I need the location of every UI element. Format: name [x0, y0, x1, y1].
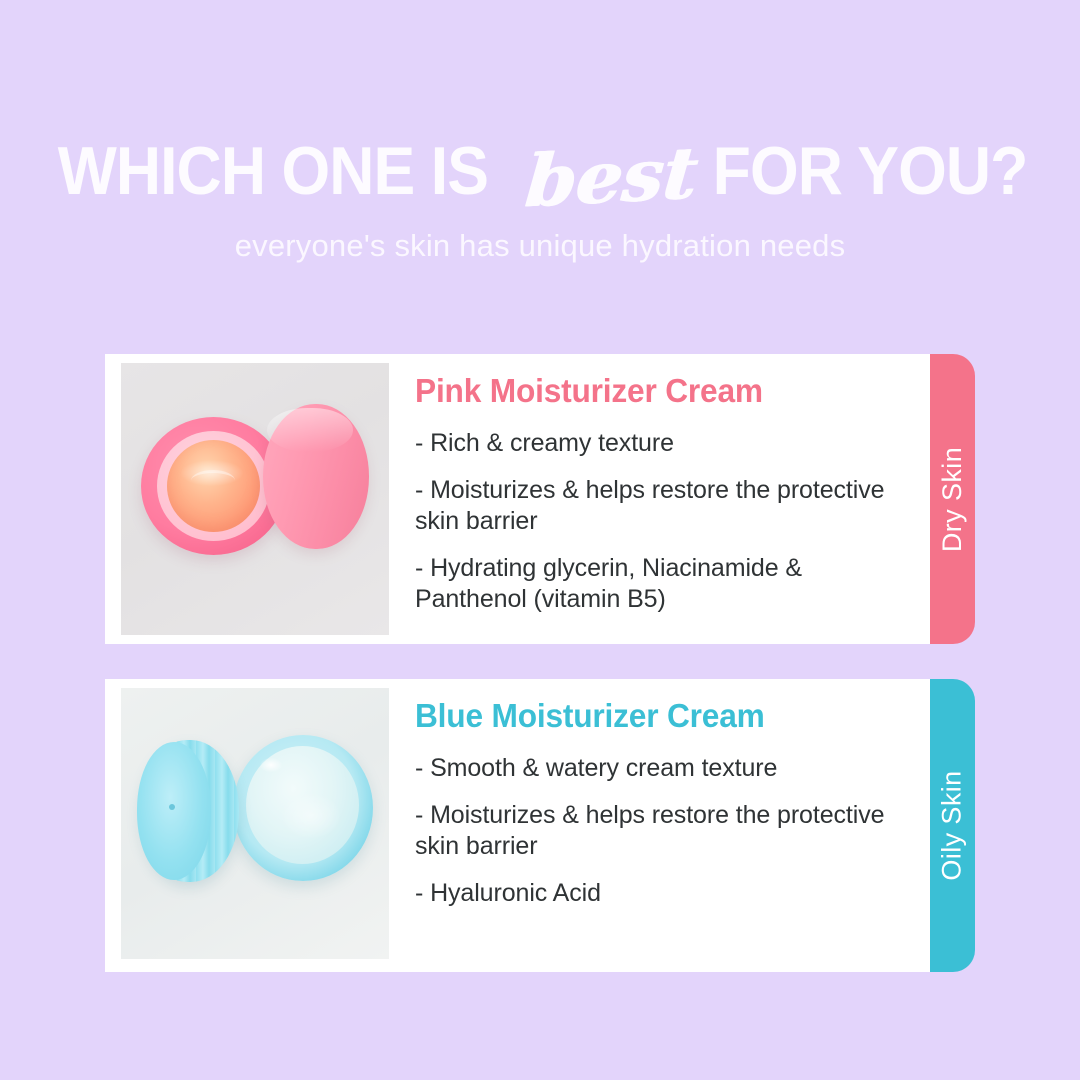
- product-title-pink: Pink Moisturizer Cream: [415, 372, 892, 410]
- headline-part-2: FOR YOU?: [713, 128, 1028, 214]
- product-card-pink[interactable]: Pink Moisturizer Cream - Rich & creamy t…: [105, 354, 930, 644]
- feature-bullet: - Hydrating glycerin, Niacinamide & Pant…: [415, 553, 912, 615]
- product-image-pink: [121, 363, 389, 635]
- product-title-blue: Blue Moisturizer Cream: [415, 697, 892, 735]
- headline-script-word: best: [522, 130, 701, 225]
- blue-cream-product-icon: [246, 746, 359, 864]
- feature-bullet: - Hyaluronic Acid: [415, 878, 912, 909]
- card-body-blue: Blue Moisturizer Cream - Smooth & watery…: [389, 688, 930, 963]
- blue-jar-lid-face-icon: [137, 742, 211, 880]
- photo-backdrop: [121, 363, 389, 635]
- header: WHICH ONE IS best FOR YOU? everyone's sk…: [0, 126, 1080, 264]
- feature-bullet: - Rich & creamy texture: [415, 428, 912, 459]
- card-body-pink: Pink Moisturizer Cream - Rich & creamy t…: [389, 363, 930, 635]
- skin-type-tab-label: Dry Skin: [937, 446, 968, 551]
- feature-bullet: - Smooth & watery cream texture: [415, 753, 912, 784]
- product-image-blue: [121, 688, 389, 959]
- skin-type-tab-dry[interactable]: Dry Skin: [930, 354, 975, 644]
- feature-bullet: - Moisturizes & helps restore the protec…: [415, 475, 912, 537]
- pink-jar-rim-icon: [157, 431, 270, 541]
- blue-jar-lid-icon: [139, 740, 239, 882]
- photo-backdrop: [121, 688, 389, 959]
- headline-part-1: WHICH ONE IS: [58, 128, 488, 214]
- pink-jar-lid-icon: [263, 404, 369, 549]
- feature-bullet: - Moisturizes & helps restore the protec…: [415, 800, 912, 862]
- blue-jar-base-icon: [233, 735, 373, 881]
- product-card-blue[interactable]: Blue Moisturizer Cream - Smooth & watery…: [105, 679, 930, 972]
- page-title: WHICH ONE IS best FOR YOU?: [0, 126, 1080, 212]
- pink-cream-product-icon: [167, 440, 260, 532]
- page-subtitle: everyone's skin has unique hydration nee…: [0, 228, 1080, 264]
- skin-type-tab-label: Oily Skin: [937, 770, 968, 880]
- skin-type-tab-oily[interactable]: Oily Skin: [930, 679, 975, 972]
